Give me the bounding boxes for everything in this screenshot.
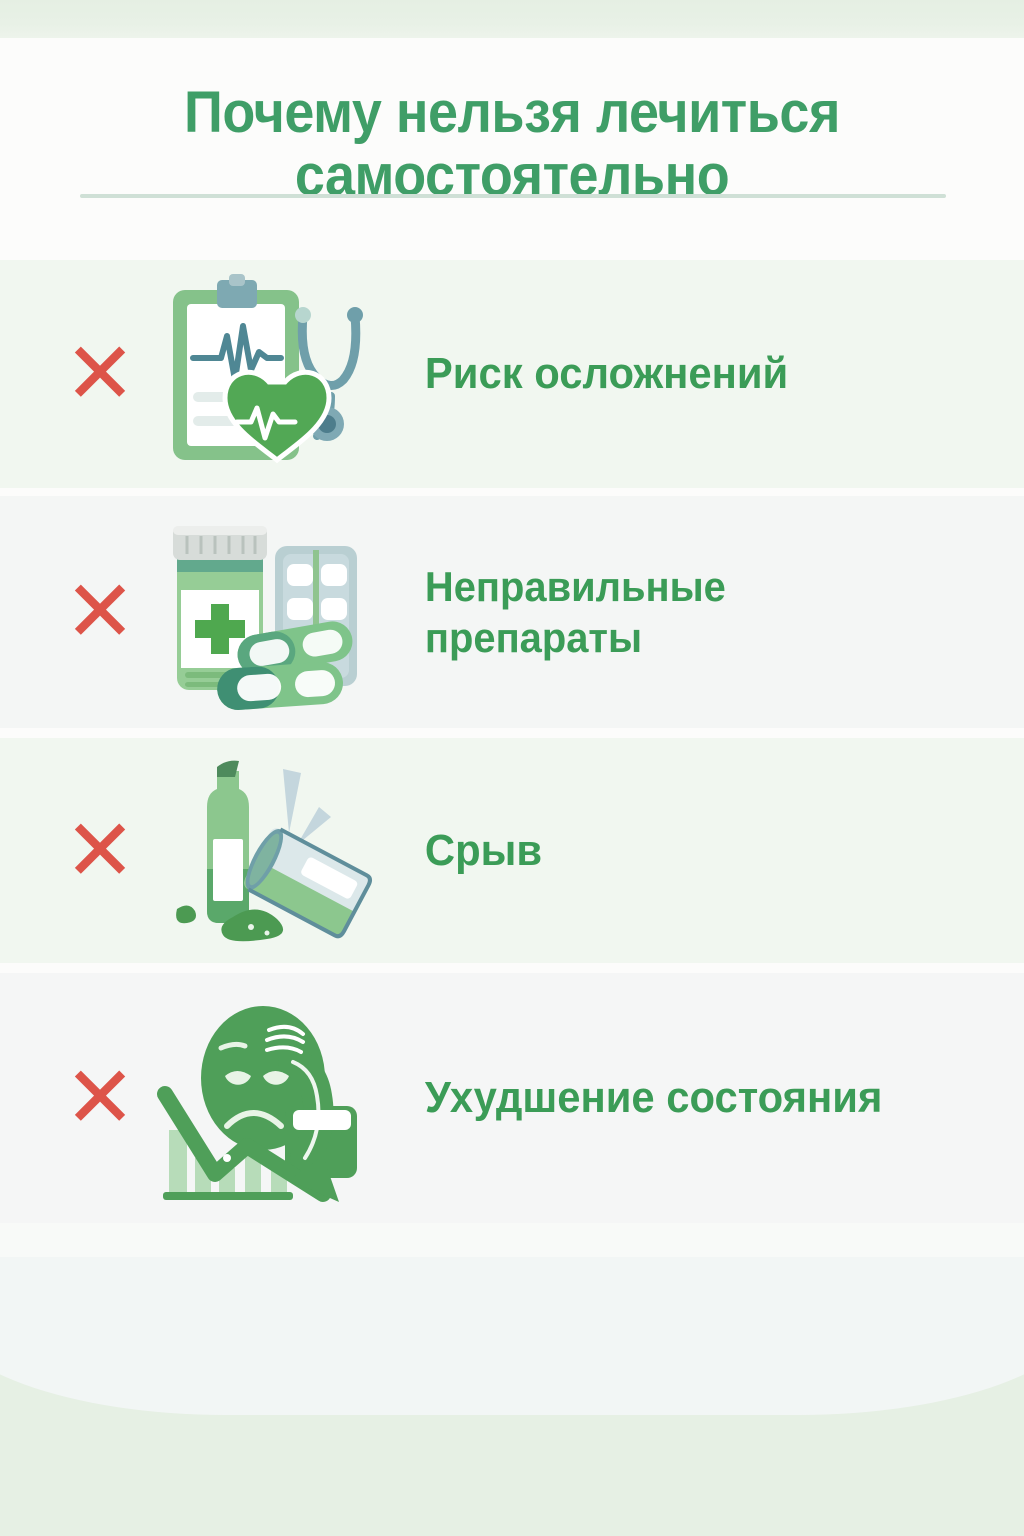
page-title: Почему нельзя лечиться самостоятельно bbox=[36, 40, 988, 207]
header: Почему нельзя лечиться самостоятельно bbox=[0, 40, 1024, 255]
list-item-label: Ухудшение состояния bbox=[385, 1071, 992, 1125]
red-cross-mark-icon: ✕ bbox=[45, 569, 155, 655]
list-item: ✕ bbox=[0, 260, 1024, 488]
list-item-label: Неправильные препараты bbox=[385, 561, 992, 663]
title-divider bbox=[80, 194, 946, 198]
sad-person-declining-chart-icon bbox=[155, 998, 385, 1198]
clipboard-stethoscope-heart-icon bbox=[155, 274, 385, 474]
red-cross-mark-icon: ✕ bbox=[45, 1055, 155, 1141]
poster-root: Почему нельзя лечиться самостоятельно ✕ bbox=[0, 0, 1024, 1536]
pill-bottle-blister-capsules-icon bbox=[155, 512, 385, 712]
red-cross-mark-icon: ✕ bbox=[45, 331, 155, 417]
list-item: ✕ bbox=[0, 738, 1024, 963]
list-item: ✕ bbox=[0, 973, 1024, 1223]
background-top-strip bbox=[0, 0, 1024, 40]
list-item-label: Срыв bbox=[385, 824, 992, 878]
red-cross-mark-icon: ✕ bbox=[45, 808, 155, 894]
list-item: ✕ bbox=[0, 496, 1024, 728]
bottle-spilled-glass-icon bbox=[155, 751, 385, 951]
list-item-label: Риск осложнений bbox=[385, 347, 992, 401]
